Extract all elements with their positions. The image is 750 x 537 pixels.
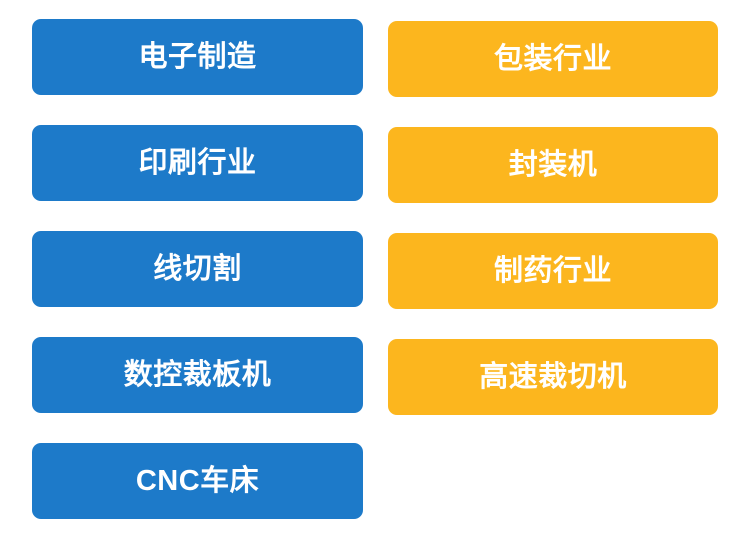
orange-tag-column: 包装行业 封装机 制药行业 高速裁切机 (388, 21, 718, 415)
tag-button-label: 线切割 (153, 255, 242, 284)
tag-button-grid: 电子制造 印刷行业 线切割 数控裁板机 CNC车床 包装行业 封装机 制药行业 … (0, 0, 750, 537)
tag-button-label: 制药行业 (494, 257, 612, 286)
tag-button-label: 高速裁切机 (479, 363, 627, 392)
tag-button-packaging-industry[interactable]: 包装行业 (388, 21, 718, 97)
tag-button-label: 数控裁板机 (124, 361, 272, 390)
tag-button-label: 封装机 (509, 151, 598, 180)
tag-button-cnc-lathe[interactable]: CNC车床 (32, 443, 363, 519)
tag-button-pharmaceutical-industry[interactable]: 制药行业 (388, 233, 718, 309)
tag-button-printing-industry[interactable]: 印刷行业 (32, 125, 363, 201)
tag-button-label: 电子制造 (138, 43, 256, 72)
tag-button-sealing-machine[interactable]: 封装机 (388, 127, 718, 203)
tag-button-label: 包装行业 (494, 45, 612, 74)
tag-button-label: 印刷行业 (138, 149, 256, 178)
tag-button-electronics-manufacturing[interactable]: 电子制造 (32, 19, 363, 95)
blue-tag-column: 电子制造 印刷行业 线切割 数控裁板机 CNC车床 (32, 19, 363, 519)
tag-button-wire-cutting[interactable]: 线切割 (32, 231, 363, 307)
tag-button-label: CNC车床 (136, 467, 259, 496)
tag-button-high-speed-cutter[interactable]: 高速裁切机 (388, 339, 718, 415)
tag-button-cnc-panel-saw[interactable]: 数控裁板机 (32, 337, 363, 413)
